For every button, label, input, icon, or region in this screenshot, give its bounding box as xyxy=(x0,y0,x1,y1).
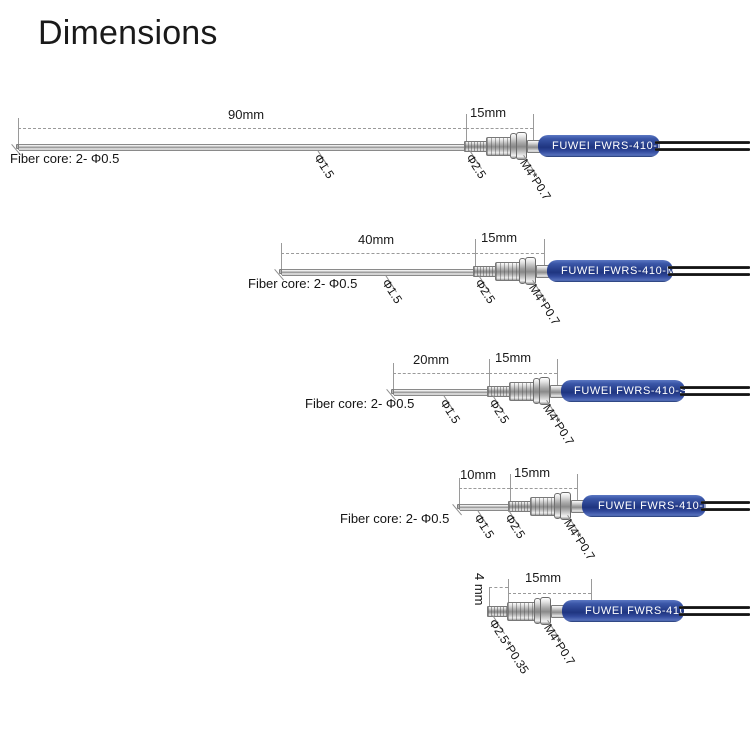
exit-wire-upper-2 xyxy=(668,266,750,269)
dim-ext-right-4 xyxy=(510,474,511,504)
probe-thread-2 xyxy=(473,266,497,277)
exit-wire-lower-3 xyxy=(680,393,750,396)
dim-line-stem-1 xyxy=(18,128,466,129)
probe-stem-4 xyxy=(460,504,510,511)
probe-stem-2 xyxy=(282,269,475,276)
label-probe-dia-4: Φ2.5 xyxy=(503,512,527,541)
exit-wire-lower-4 xyxy=(701,508,750,511)
label-stem-dia-3: Φ1.5 xyxy=(438,397,462,426)
dim-line-stem-3 xyxy=(393,373,489,374)
exit-wire-lower-2 xyxy=(668,273,750,276)
fiber-core-note-4: Fiber core: 2- Φ0.5 xyxy=(340,512,449,525)
exit-wire-lower-1 xyxy=(655,148,750,151)
label-thread-2: M4*P0.7 xyxy=(527,282,562,327)
label-probe-dia-3: Φ2.5 xyxy=(487,397,511,426)
page-title: Dimensions xyxy=(38,14,218,53)
label-thread-5: M4*P0.7 xyxy=(542,622,577,667)
probe-thread-5 xyxy=(487,606,509,617)
dim-ext-barrel-right-3 xyxy=(557,359,558,387)
model-label-1: FUWEI FWRS-410-L xyxy=(552,141,664,152)
barrel-1 xyxy=(486,137,512,156)
nut-4 xyxy=(560,492,571,520)
label-thread-4: M4*P0.7 xyxy=(562,517,597,562)
dimensions-diagram: Dimensions 90mm 15mm FUWEI FWRS-410-L Φ1… xyxy=(0,0,750,750)
barrel-3 xyxy=(509,382,535,401)
fiber-core-note-1: Fiber core: 2- Φ0.5 xyxy=(10,152,119,165)
dim-line-barrel-5 xyxy=(508,593,591,594)
dim-line-barrel-2 xyxy=(475,253,544,254)
exit-wire-upper-4 xyxy=(701,501,750,504)
dim-ext-right-2 xyxy=(475,239,476,269)
nut-2 xyxy=(525,257,536,285)
dim-barrel-length-3: 15mm xyxy=(495,351,531,364)
barrel-2 xyxy=(495,262,521,281)
dim-line-stem-2 xyxy=(281,253,475,254)
label-stem-dia-4: Φ1.5 xyxy=(472,512,496,541)
probe-thread-3 xyxy=(487,386,511,397)
dim-ext-barrel-right-1 xyxy=(533,114,534,142)
label-stem-dia-2: Φ1.5 xyxy=(380,277,404,306)
fiber-core-note-2: Fiber core: 2- Φ0.5 xyxy=(248,277,357,290)
dim-stem-length-4: 10mm xyxy=(460,468,496,481)
dim-barrel-length-1: 15mm xyxy=(470,106,506,119)
dim-line-barrel-1 xyxy=(466,128,533,129)
nut-5 xyxy=(540,597,551,625)
dim-line-stem-4 xyxy=(459,488,510,489)
dim-stem-length-2: 40mm xyxy=(358,233,394,246)
exit-wire-upper-3 xyxy=(680,386,750,389)
dim-line-stem-5 xyxy=(489,587,508,588)
dim-barrel-length-4: 15mm xyxy=(514,466,550,479)
label-probe-dia-2: Φ2.5 xyxy=(473,277,497,306)
barrel-5 xyxy=(507,602,536,621)
nut-3 xyxy=(539,377,550,405)
label-stem-dia-1: Φ1.5 xyxy=(312,152,336,181)
label-probe-dia-1: Φ2.5 xyxy=(464,152,488,181)
probe-stem-3 xyxy=(394,389,489,396)
dim-barrel-length-5: 15mm xyxy=(525,571,561,584)
dim-stem-length-5: 4 mm xyxy=(473,573,486,606)
label-thread-3: M4*P0.7 xyxy=(541,402,576,447)
product-row-base: 4 mm 15mm FUWEI FWRS-410 Φ2.5*P0.35 M4*P… xyxy=(0,565,750,715)
exit-wire-upper-5 xyxy=(679,606,750,609)
dim-line-barrel-4 xyxy=(510,488,577,489)
model-label-4: FUWEI FWRS-410-I xyxy=(598,501,707,512)
probe-thread-1 xyxy=(464,141,488,152)
dim-barrel-length-2: 15mm xyxy=(481,231,517,244)
dim-stem-length-1: 90mm xyxy=(228,108,264,121)
dim-stem-length-3: 20mm xyxy=(413,353,449,366)
fiber-core-note-3: Fiber core: 2- Φ0.5 xyxy=(305,397,414,410)
exit-wire-upper-1 xyxy=(655,141,750,144)
exit-wire-lower-5 xyxy=(679,613,750,616)
label-probe-dia-5: Φ2.5*P0.35 xyxy=(487,617,531,676)
dim-line-barrel-3 xyxy=(489,373,557,374)
nut-1 xyxy=(516,132,527,160)
dim-ext-right-3 xyxy=(489,359,490,389)
dim-ext-barrel-right-4 xyxy=(577,474,578,502)
model-label-2: FUWEI FWRS-410-M xyxy=(561,266,676,277)
barrel-4 xyxy=(530,497,556,516)
model-label-3: FUWEI FWRS-410-S xyxy=(574,386,688,397)
label-thread-1: M4*P0.7 xyxy=(518,157,553,202)
model-label-5: FUWEI FWRS-410 xyxy=(585,606,686,617)
probe-stem-1 xyxy=(19,144,466,151)
dim-ext-barrel-right-2 xyxy=(544,239,545,267)
dim-ext-right-1 xyxy=(466,114,467,144)
probe-thread-4 xyxy=(508,501,532,512)
